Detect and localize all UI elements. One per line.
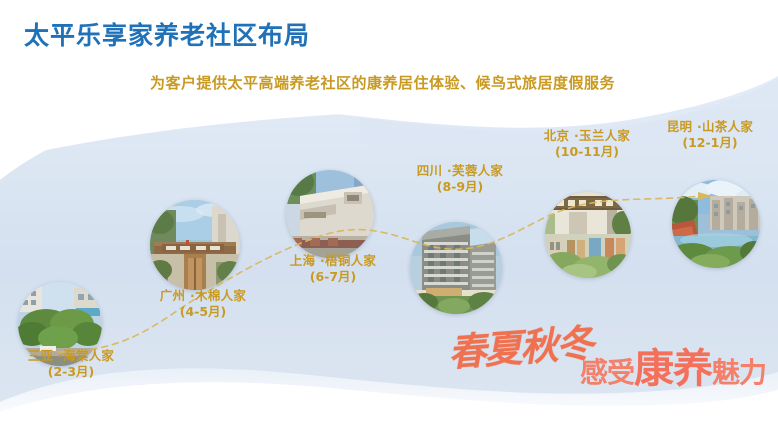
node-photo-kunming[interactable] (672, 180, 760, 268)
page-title: 太平乐享家养老社区布局 (24, 16, 310, 52)
node-label-name-shanghai: 上海 ·梧铜人家 (258, 253, 408, 269)
node-label-name-kunming: 昆明 ·山茶人家 (640, 119, 778, 135)
slide-canvas: 太平乐享家养老社区布局 为客户提供太平高端养老社区的康养居住体验、候鸟式旅居度假… (0, 0, 778, 425)
node-label-period-shanghai: (6-7月) (258, 269, 408, 285)
slogan-bold: 感受康养魅力 (580, 336, 766, 394)
photo-art-beijing (545, 192, 631, 278)
node-label-period-sichuan: (8-9月) (385, 179, 535, 195)
node-label-kunming: 昆明 ·山茶人家 (12-1月) (640, 119, 778, 150)
node-label-guangzhou: 广州 ·木棉人家 (4-5月) (128, 288, 278, 319)
photo-art-sichuan (410, 222, 502, 314)
node-photo-guangzhou[interactable] (150, 200, 240, 290)
node-label-period-kunming: (12-1月) (640, 135, 778, 151)
node-photo-sichuan[interactable] (410, 222, 502, 314)
slogan-script: 春夏秋冬 (446, 312, 594, 377)
slogan-suffix: 魅力 (712, 356, 766, 389)
node-label-name-sanya: 三亚 ·海棠人家 (0, 348, 146, 364)
slogan-main: 康养 (634, 346, 712, 392)
node-label-name-sichuan: 四川 ·芙蓉人家 (385, 163, 535, 179)
photo-art-guangzhou (150, 200, 240, 290)
photo-art-shanghai (286, 170, 374, 258)
node-photo-beijing[interactable] (545, 192, 631, 278)
node-photo-shanghai[interactable] (286, 170, 374, 258)
node-label-period-sanya: (2-3月) (0, 364, 146, 380)
node-label-period-guangzhou: (4-5月) (128, 304, 278, 320)
page-subtitle: 为客户提供太平高端养老社区的康养居住体验、候鸟式旅居度假服务 (150, 72, 615, 93)
node-label-sichuan: 四川 ·芙蓉人家 (8-9月) (385, 163, 535, 194)
slogan-prefix: 感受 (580, 356, 634, 389)
node-label-sanya: 三亚 ·海棠人家 (2-3月) (0, 348, 146, 379)
node-label-name-guangzhou: 广州 ·木棉人家 (128, 288, 278, 304)
node-label-shanghai: 上海 ·梧铜人家 (6-7月) (258, 253, 408, 284)
photo-art-kunming (672, 180, 760, 268)
